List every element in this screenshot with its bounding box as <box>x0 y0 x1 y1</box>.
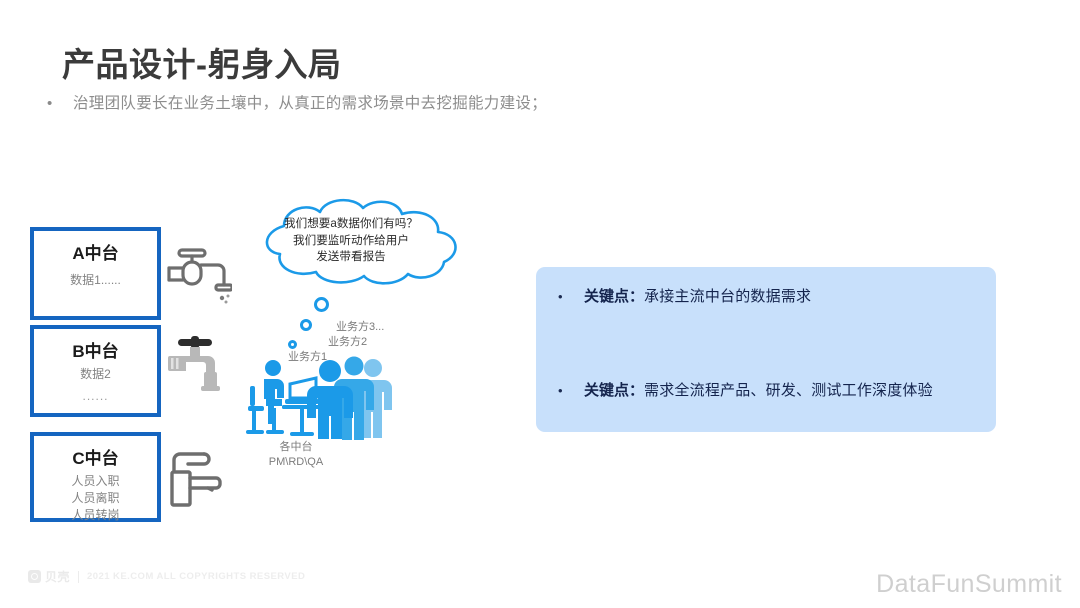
platform-box-c-sub-2: 人员离职 <box>34 490 157 507</box>
thought-bubble-dot-medium-icon <box>300 319 312 331</box>
people-caption-line-1: 各中台 <box>236 440 356 455</box>
key-point-label-2: 关键点： <box>584 379 644 400</box>
key-point-text-1: 承接主流中台的数据需求 <box>644 285 811 306</box>
seated-worker-icon <box>246 360 284 434</box>
people-group-caption: 各中台 PM\RD\QA <box>236 440 356 470</box>
people-caption-line-2: PM\RD\QA <box>236 455 356 470</box>
party-label-2: 业务方2 <box>328 333 367 349</box>
thought-bubble-line-3: 发送带看报告 <box>243 249 459 266</box>
subtitle-bullet-icon: • <box>47 93 73 115</box>
platform-box-b-title: B中台 <box>34 341 157 363</box>
thought-bubble-line-2: 我们要监听动作给用户 <box>243 233 459 250</box>
thought-bubble-dot-large-icon <box>314 297 329 312</box>
slide-canvas: 产品设计-躬身入局 • 治理团队要长在业务土壤中，从真正的需求场景中去挖掘能力建… <box>0 0 1080 608</box>
page-title: 产品设计-躬身入局 <box>62 38 342 86</box>
platform-box-a[interactable]: A中台 数据1...... <box>30 227 161 320</box>
footer-copyright: 2021 KE.COM ALL COPYRIGHTS RESERVED <box>87 571 305 582</box>
platform-box-c-sub-1: 人员入职 <box>34 473 157 490</box>
faucet-solid-icon <box>168 336 236 400</box>
key-point-text-2: 需求全流程产品、研发、测试工作深度体验 <box>644 379 933 400</box>
subtitle-text: 治理团队要长在业务土壤中，从真正的需求场景中去挖掘能力建设； <box>73 93 547 115</box>
platform-box-b-sub: 数据2 <box>34 366 157 383</box>
platform-box-c-title: C中台 <box>34 448 157 470</box>
key-point-label-1: 关键点： <box>584 285 644 306</box>
thought-bubble-text: 我们想要a数据你们有吗？ 我们要监听动作给用户 发送带看报告 <box>243 216 459 266</box>
key-point-bullet-2-icon: • <box>558 383 584 398</box>
footer-divider <box>78 571 79 583</box>
thought-bubble-line-1: 我们想要a数据你们有吗？ <box>243 216 459 233</box>
mixer-tap-outline-icon <box>168 452 230 512</box>
key-point-row-1: • 关键点： 承接主流中台的数据需求 <box>558 285 974 306</box>
platform-box-b[interactable]: B中台 数据2 ...... <box>30 325 161 417</box>
footer-brand: DataFunSummit <box>876 570 1062 599</box>
platform-box-a-sub: 数据1...... <box>34 272 157 289</box>
platform-box-a-title: A中台 <box>34 243 157 265</box>
key-point-bullet-1-icon: • <box>558 289 584 304</box>
platform-box-b-dots: ...... <box>34 389 157 403</box>
key-points-panel: • 关键点： 承接主流中台的数据需求 • 关键点： 需求全流程产品、研发、测试工… <box>536 267 996 432</box>
beike-logo-text: 贝壳 <box>45 568 70 585</box>
footer-left: 贝壳 2021 KE.COM ALL COPYRIGHTS RESERVED <box>28 568 305 585</box>
platform-box-c[interactable]: C中台 人员入职 人员离职 人员转岗 <box>30 432 161 522</box>
platform-box-c-sub-3: 人员转岗 <box>34 507 157 524</box>
party-label-3: 业务方3... <box>336 318 384 334</box>
beike-logo-icon <box>28 570 41 583</box>
people-group-icon <box>242 356 392 441</box>
key-point-row-2: • 关键点： 需求全流程产品、研发、测试工作深度体验 <box>558 379 974 400</box>
subtitle-row: • 治理团队要长在业务土壤中，从真正的需求场景中去挖掘能力建设； <box>47 93 547 115</box>
